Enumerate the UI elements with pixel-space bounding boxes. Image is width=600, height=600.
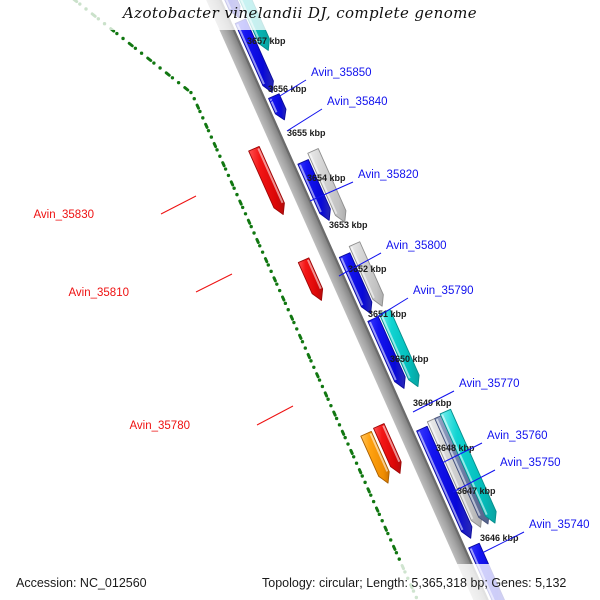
gc-track-mark — [152, 61, 155, 64]
gc-track-mark — [343, 436, 346, 439]
gc-track-mark — [386, 532, 389, 535]
gc-track-mark — [334, 412, 335, 415]
gc-track-mark — [317, 374, 318, 377]
gc-track-mark — [210, 135, 213, 138]
gc-track-mark — [214, 143, 215, 146]
gc-track-mark — [158, 66, 161, 69]
gc-track-mark — [283, 297, 284, 300]
axis-tick-label: 3657 kbp — [247, 36, 286, 46]
gc-track-mark — [284, 302, 287, 305]
axis-tick-label: 3650 kbp — [390, 354, 429, 364]
gene-label-avin_35830[interactable]: Avin_35830 — [33, 209, 94, 221]
gene-label-avin_35760[interactable]: Avin_35760 — [487, 430, 548, 442]
gc-track-mark — [177, 81, 180, 84]
genome-map-canvas[interactable]: 3657 kbp3656 kbp3655 kbp3654 kbp3653 kbp… — [0, 0, 600, 600]
axis-tick-label: 3648 kbp — [436, 443, 475, 453]
gc-track-mark — [415, 596, 418, 599]
gc-track-mark — [224, 167, 227, 170]
gc-track-mark — [342, 431, 343, 434]
gc-track-mark — [134, 47, 137, 50]
gene-label-avin_35780[interactable]: Avin_35780 — [129, 420, 190, 432]
gc-track-mark — [189, 91, 192, 94]
gc-track-mark — [250, 225, 253, 228]
gc-track-mark — [308, 354, 309, 357]
gc-track-mark — [103, 22, 106, 25]
gc-track-mark — [361, 474, 364, 477]
gc-track-mark — [231, 182, 232, 185]
gc-track-mark — [201, 116, 204, 119]
axis-tick-label: 3652 kbp — [348, 264, 387, 274]
gc-track-mark — [325, 393, 326, 396]
gc-track-mark — [261, 250, 264, 253]
gene-label-avin_35810[interactable]: Avin_35810 — [68, 287, 129, 299]
gc-track-mark — [274, 278, 275, 281]
gene-label-leader-line — [161, 196, 196, 214]
gc-track-mark — [338, 423, 341, 426]
gc-track-mark — [378, 513, 381, 516]
gc-track-mark — [121, 37, 124, 40]
gc-track-mark — [295, 327, 298, 330]
gc-track-mark — [376, 508, 377, 511]
gc-track-mark — [218, 155, 221, 158]
gc-track-mark — [292, 321, 295, 324]
gene-label-avin_35770[interactable]: Avin_35770 — [459, 378, 520, 390]
gene-label-avin_35800[interactable]: Avin_35800 — [386, 240, 447, 252]
axis-tick-label: 3646 kbp — [480, 533, 519, 543]
gene-label-avin_35750[interactable]: Avin_35750 — [500, 457, 561, 469]
genome-map-svg[interactable]: 3657 kbp3656 kbp3655 kbp3654 kbp3653 kbp… — [0, 0, 600, 600]
gc-track-mark — [389, 538, 392, 541]
gc-track-mark — [278, 289, 281, 292]
gc-track-mark — [241, 206, 244, 209]
axis-tick-label: 3647 kbp — [457, 486, 496, 496]
gc-track-mark — [363, 481, 366, 484]
gc-track-mark — [111, 29, 114, 31]
gc-track-mark — [301, 340, 304, 343]
gc-track-mark — [223, 163, 224, 166]
gc-track-mark — [351, 450, 352, 453]
axis-tick-label: 3655 kbp — [287, 128, 326, 138]
gc-track-mark — [300, 335, 301, 338]
accession-text: Accession: NC_012560 — [16, 576, 147, 590]
gc-track-mark — [257, 239, 258, 242]
gene-label-avin_35740[interactable]: Avin_35740 — [529, 519, 590, 531]
gc-track-mark — [244, 212, 247, 215]
gc-track-mark — [235, 193, 238, 196]
gc-track-mark — [402, 566, 403, 569]
gc-track-mark — [227, 174, 230, 177]
gc-track-mark — [267, 263, 270, 266]
gc-track-mark — [140, 51, 143, 54]
gene-label-leader-line — [196, 274, 232, 292]
genome-backbone[interactable] — [185, 0, 600, 600]
gc-track-mark — [355, 462, 358, 465]
gene-label-leader-line — [257, 406, 293, 425]
gc-track-mark — [148, 58, 151, 60]
gc-track-mark — [115, 32, 118, 35]
gc-track-mark — [252, 231, 255, 234]
gc-track-mark — [380, 519, 383, 522]
gc-track-mark — [166, 73, 169, 75]
gc-track-mark — [129, 43, 132, 45]
axis-tick-label: 3649 kbp — [413, 398, 452, 408]
gc-track-mark — [185, 88, 188, 90]
gc-track-mark — [398, 557, 401, 560]
gc-track-mark — [335, 417, 338, 420]
gene-label-avin_35820[interactable]: Avin_35820 — [358, 169, 419, 181]
gc-track-mark — [318, 378, 321, 381]
gc-track-mark — [275, 282, 278, 285]
gene-label-avin_35790[interactable]: Avin_35790 — [413, 285, 474, 297]
gc-track-mark — [304, 346, 307, 349]
gc-track-mark — [403, 570, 406, 573]
gc-track-mark — [309, 359, 312, 362]
gc-track-mark — [269, 270, 272, 273]
genome-stats-text: Topology: circular; Length: 5,365,318 bp… — [262, 576, 566, 590]
axis-tick-label: 3654 kbp — [307, 173, 346, 183]
gene-label-avin_35850[interactable]: Avin_35850 — [311, 67, 372, 79]
gc-track-mark — [287, 308, 290, 311]
gc-track-mark — [74, 0, 77, 2]
gc-track-mark — [368, 489, 369, 492]
gc-track-mark — [385, 527, 386, 530]
gc-track-mark — [395, 551, 398, 554]
gc-track-mark — [321, 385, 324, 388]
gc-track-mark — [207, 129, 210, 132]
gc-track-mark — [258, 244, 261, 247]
gc-track-mark — [359, 470, 360, 473]
gc-track-mark — [346, 442, 349, 445]
gc-track-mark — [248, 220, 249, 223]
gc-track-mark — [291, 316, 292, 319]
gc-track-mark — [372, 500, 375, 503]
page-title: Azotobacter vinelandii DJ, complete geno… — [0, 4, 600, 22]
gc-track-mark — [369, 493, 372, 496]
gc-track-mark — [240, 201, 241, 204]
gc-track-mark — [394, 546, 395, 549]
gc-track-mark — [265, 259, 266, 262]
gc-track-mark — [232, 187, 235, 190]
gc-track-mark — [206, 124, 207, 127]
gc-track-mark — [171, 76, 174, 79]
gc-track-mark — [352, 455, 355, 458]
gc-track-mark — [215, 148, 218, 151]
gc-track-mark — [197, 105, 198, 108]
gc-track-mark — [198, 110, 201, 113]
gc-track-mark — [326, 398, 329, 401]
axis-tick-label: 3656 kbp — [268, 84, 307, 94]
gc-track-mark — [312, 366, 315, 369]
gc-track-mark — [193, 97, 196, 100]
gc-track-mark — [329, 404, 332, 407]
axis-tick-label: 3653 kbp — [329, 220, 368, 230]
gene-label-avin_35840[interactable]: Avin_35840 — [327, 96, 388, 108]
